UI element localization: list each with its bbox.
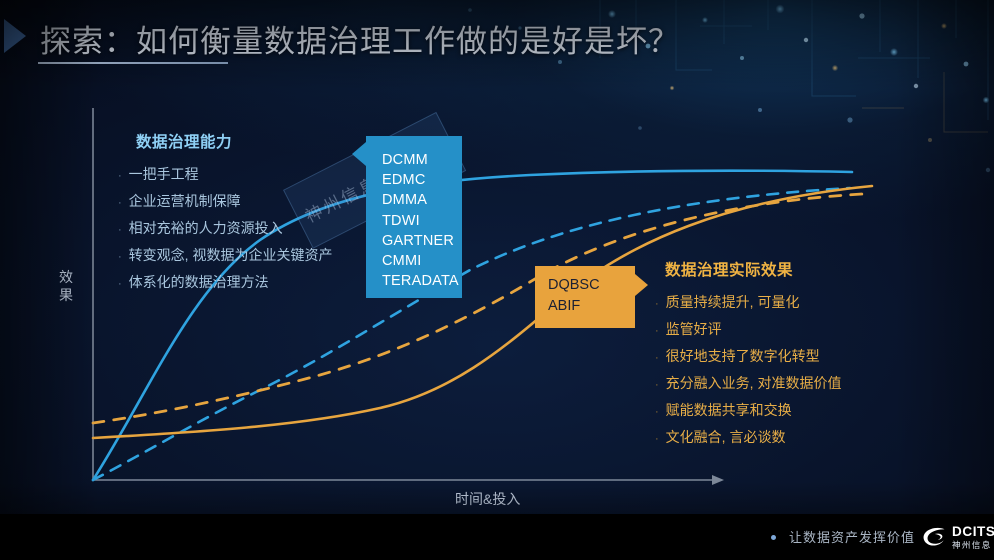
capability-panel: 数据治理能力 ·一把手工程 ·企业运营机制保障 ·相对充裕的人力资源投入 ·转变… [118,130,332,297]
list-item-label: 监管好评 [666,317,722,342]
list-item-label: 体系化的数据治理方法 [129,270,269,295]
list-item: ·赋能数据共享和交换 [655,398,841,425]
list-item-label: 企业运营机制保障 [129,189,241,214]
bullet-icon: · [118,272,122,297]
list-item-label: 很好地支持了数字化转型 [666,344,820,369]
list-item: TERADATA [382,271,462,291]
list-item: CMMI [382,251,462,271]
logo-cn-text: 神州信息 [952,541,994,550]
bullet-icon: · [655,319,659,344]
bullet-icon: · [655,400,659,425]
bullet-icon: · [655,346,659,371]
list-item: TDWI [382,211,462,231]
bullet-icon: · [118,164,122,189]
bullet-icon: · [118,191,122,216]
list-item-label: 相对充裕的人力资源投入 [129,216,283,241]
list-item: ·转变观念, 视数据为企业关键资产 [118,243,332,270]
bullet-icon: · [655,292,659,317]
bullet-icon: · [118,218,122,243]
swirl-logo-icon [922,526,948,548]
list-item: DMMA [382,190,462,210]
slide-canvas: 探索：如何衡量数据治理工作做的是好是坏？ 效果 时间&投入 神州信息 梅万志 数… [0,0,994,560]
list-item: GARTNER [382,231,462,251]
callout-pointer-icon [635,274,648,296]
list-item-label: 赋能数据共享和交换 [666,398,792,423]
metrics-callout: DQBSC ABIF [535,266,635,328]
footer-bar: 让数据资产发挥价值 DCITS 神州信息 [0,514,994,560]
list-item-label: 一把手工程 [129,162,199,187]
list-item-label: 文化融合, 言必谈数 [666,425,786,450]
standards-list: DCMM EDMC DMMA TDWI GARTNER CMMI TERADAT… [366,136,462,291]
bullet-icon: · [655,373,659,398]
footer-bullet-icon [771,535,776,540]
effect-panel: 数据治理实际效果 ·质量持续提升, 可量化 ·监管好评 ·很好地支持了数字化转型… [655,258,841,452]
footer-tagline: 让数据资产发挥价值 [789,527,915,546]
list-item: ·体系化的数据治理方法 [118,270,332,297]
x-axis-label: 时间&投入 [455,489,520,509]
list-item: ·一把手工程 [118,162,332,189]
logo-wordmark: DCITS 神州信息 [952,525,994,549]
list-item: DQBSC [548,275,635,296]
list-item: ·很好地支持了数字化转型 [655,344,841,371]
list-item: DCMM [382,150,462,170]
effect-panel-heading: 数据治理实际效果 [655,258,841,280]
title-marker-icon [4,19,26,53]
list-item: ·质量持续提升, 可量化 [655,290,841,317]
capability-panel-heading: 数据治理能力 [118,130,332,152]
title-underline [38,62,228,64]
list-item: ·充分融入业务, 对准数据价值 [655,371,841,398]
list-item: ·企业运营机制保障 [118,189,332,216]
logo-en-text: DCITS [952,525,994,539]
metrics-list: DQBSC ABIF [535,266,635,317]
list-item: ABIF [548,296,635,317]
capability-panel-list: ·一把手工程 ·企业运营机制保障 ·相对充裕的人力资源投入 ·转变观念, 视数据… [118,162,332,297]
effect-panel-list: ·质量持续提升, 可量化 ·监管好评 ·很好地支持了数字化转型 ·充分融入业务,… [655,290,841,452]
list-item-label: 质量持续提升, 可量化 [666,290,800,315]
callout-pointer-icon [352,142,366,166]
list-item: ·相对充裕的人力资源投入 [118,216,332,243]
list-item: ·文化融合, 言必谈数 [655,425,841,452]
list-item: ·监管好评 [655,317,841,344]
bullet-icon: · [118,245,122,270]
standards-callout: DCMM EDMC DMMA TDWI GARTNER CMMI TERADAT… [366,136,462,298]
list-item-label: 充分融入业务, 对准数据价值 [666,371,842,396]
y-axis-label: 效果 [55,268,77,304]
company-logo: DCITS 神州信息 [922,525,994,549]
bullet-icon: · [655,427,659,452]
page-title: 探索：如何衡量数据治理工作做的是好是坏？ [40,16,680,61]
list-item-label: 转变观念, 视数据为企业关键资产 [129,243,333,268]
list-item: EDMC [382,170,462,190]
